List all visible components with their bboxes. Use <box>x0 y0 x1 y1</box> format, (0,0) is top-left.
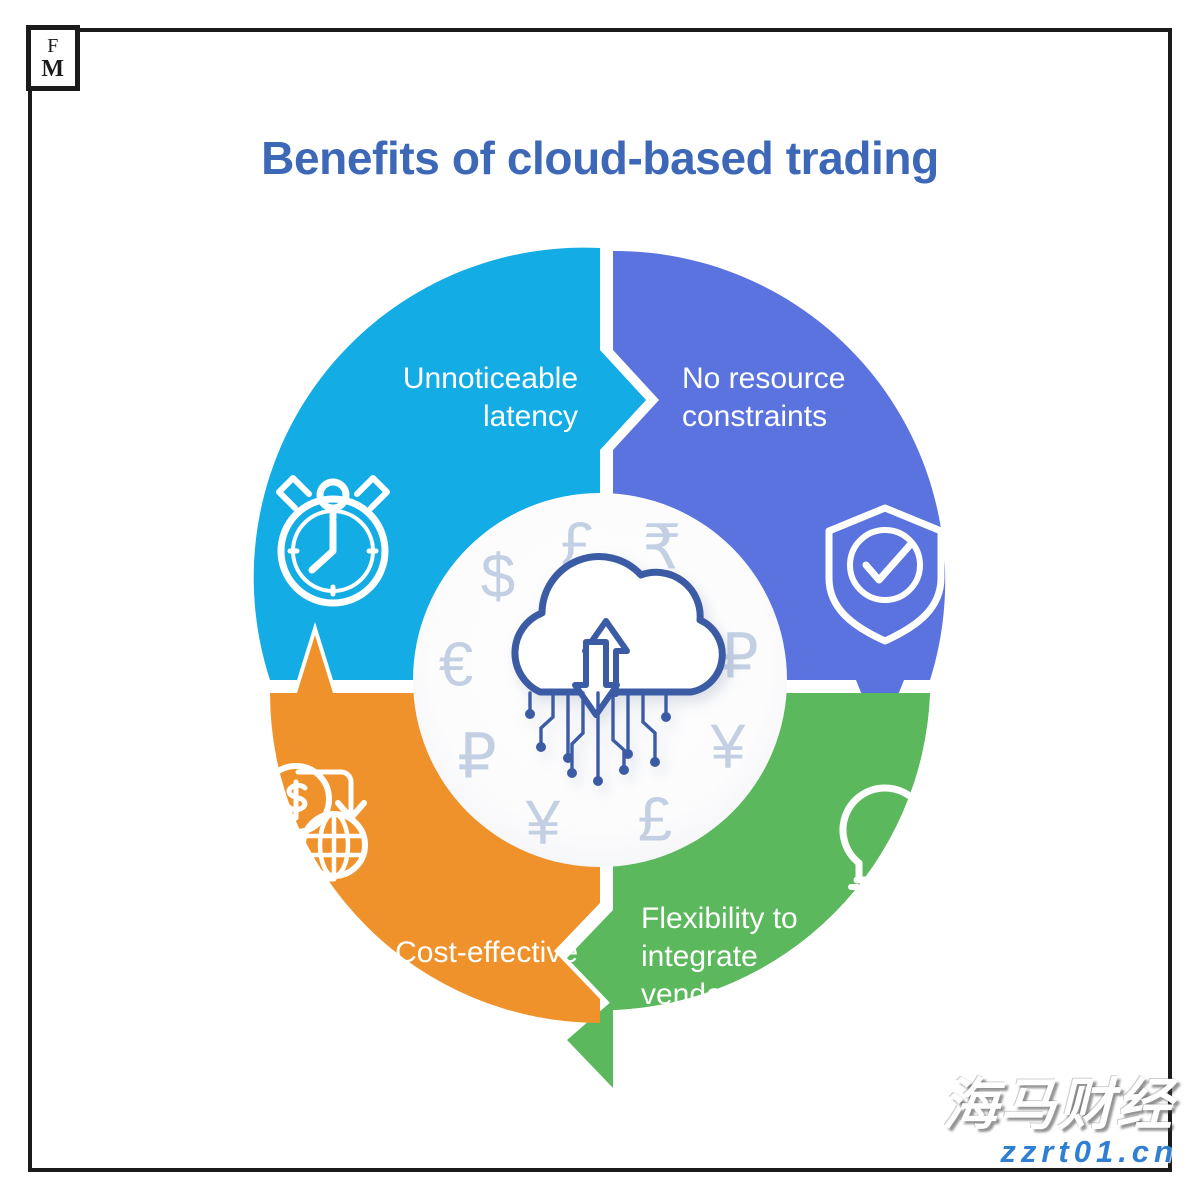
segment-label-cost-effective: Cost-effective <box>395 936 578 969</box>
label-line: Cost-effective <box>395 936 578 969</box>
logo-letter-f: F <box>47 36 59 56</box>
fm-logo: F M <box>26 25 80 91</box>
logo-letter-m: M <box>41 57 64 81</box>
yen-symbol-right: ¥ <box>710 713 746 782</box>
label-line: integrate <box>641 940 758 973</box>
label-line: constraints <box>682 400 827 433</box>
dollar-symbol: $ <box>481 543 515 612</box>
label-line: solutions <box>641 1006 759 1039</box>
label-line: latency <box>483 400 578 433</box>
label-line: Flexibility to <box>641 902 798 935</box>
infographic-page: F M Benefits of cloud-based trading <box>0 0 1200 1200</box>
label-line: Unnoticeable <box>403 362 578 395</box>
segment-label-flexibility-integrate-vendor-solutions: Flexibility to integrate vendor solution… <box>641 902 798 1039</box>
page-title: Benefits of cloud-based trading <box>0 131 1200 185</box>
label-line: No resource <box>682 362 845 395</box>
yen-symbol-bottom: ¥ <box>525 789 561 858</box>
pound-symbol-bottom: £ <box>638 786 672 855</box>
euro-symbol: € <box>439 631 473 700</box>
ruble-symbol-left: ₽ <box>457 723 496 792</box>
